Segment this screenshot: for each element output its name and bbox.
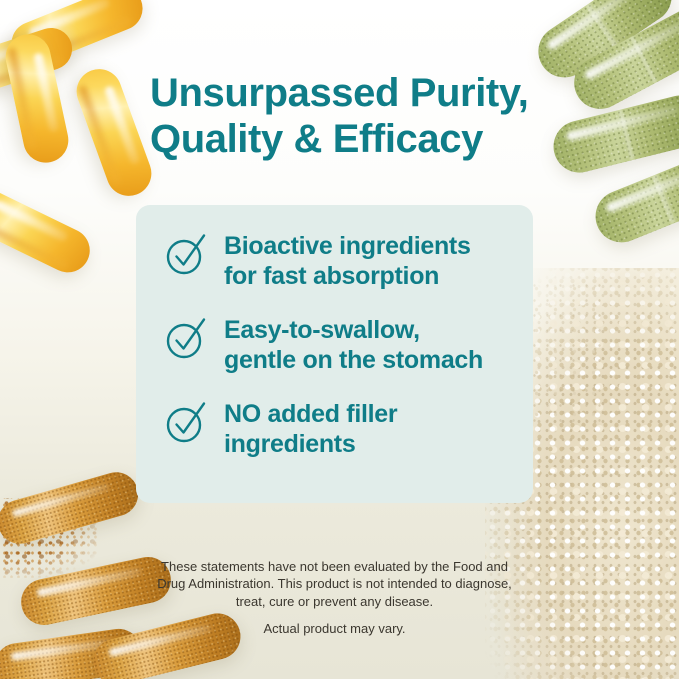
- benefits-card: Bioactive ingredients for fast absorptio…: [136, 205, 533, 503]
- promo-graphic: Unsurpassed Purity, Quality & Efficacy B…: [0, 0, 679, 679]
- capsule-powder-texture: [548, 90, 679, 178]
- capsule-seam: [652, 174, 676, 224]
- page-title: Unsurpassed Purity, Quality & Efficacy: [150, 70, 550, 163]
- capsule-powder-texture: [588, 146, 679, 250]
- softgel-capsule: [70, 63, 157, 202]
- amber-capsule: [0, 626, 144, 679]
- list-item: Bioactive ingredients for fast absorptio…: [164, 231, 519, 291]
- loose-brown-powder: [0, 498, 100, 578]
- list-item: Easy-to-swallow, gentle on the stomach: [164, 315, 519, 375]
- fda-disclaimer: These statements have not been evaluated…: [136, 558, 533, 610]
- capsule-powder-texture: [0, 467, 143, 549]
- capsule-powder-texture: [528, 0, 679, 87]
- softgel-capsule: [5, 0, 149, 72]
- circle-check-icon: [164, 317, 208, 361]
- amber-capsule: [0, 467, 143, 549]
- list-item-label: NO added filler ingredients: [224, 399, 397, 459]
- list-item-label: Easy-to-swallow, gentle on the stomach: [224, 315, 483, 375]
- green-capsule: [548, 90, 679, 178]
- benefits-list: Bioactive ingredients for fast absorptio…: [164, 231, 519, 459]
- green-capsule: [528, 0, 679, 87]
- product-variance-note: Actual product may vary.: [136, 620, 533, 637]
- capsule-seam: [629, 36, 658, 84]
- green-capsule: [588, 146, 679, 250]
- capsule-powder-texture: [565, 0, 679, 118]
- softgel-capsule: [0, 184, 97, 280]
- softgel-capsule: [1, 30, 72, 167]
- capsule-seam: [618, 109, 635, 161]
- softgel-capsule: [0, 22, 78, 99]
- list-item: NO added filler ingredients: [164, 399, 519, 459]
- green-capsule: [565, 0, 679, 118]
- capsule-seam: [585, 3, 618, 49]
- circle-check-icon: [164, 233, 208, 277]
- circle-check-icon: [164, 401, 208, 445]
- list-item-label: Bioactive ingredients for fast absorptio…: [224, 231, 471, 291]
- capsule-powder-texture: [0, 626, 144, 679]
